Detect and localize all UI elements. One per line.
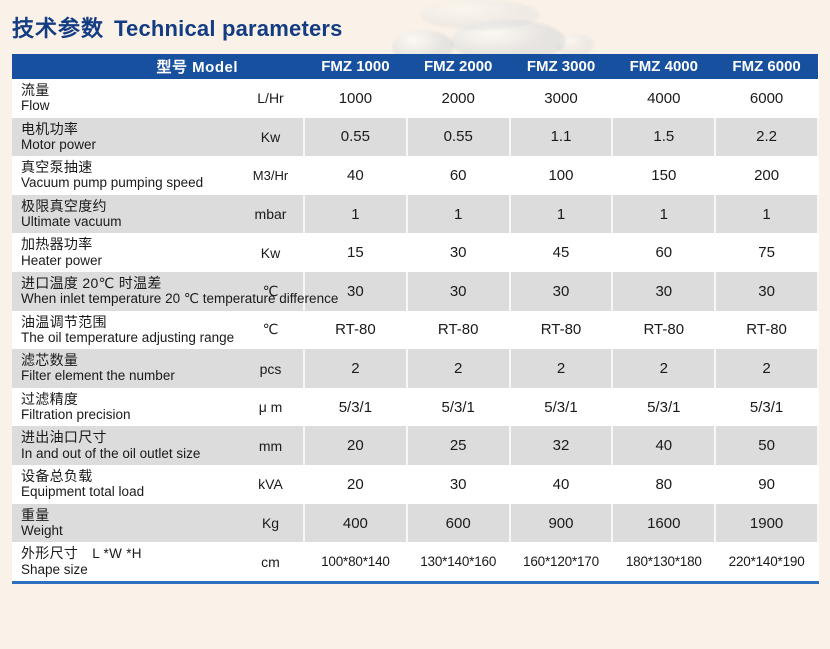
parameter-name-cell: 电机功率Motor power [12,118,238,157]
parameter-name-chinese: 滤芯数量 [21,352,234,368]
parameter-name-cell: 外形尺寸L *W *HShape size [12,542,238,583]
parameter-name-chinese: 重量 [21,507,234,523]
parameter-name-cell: 油温调节范围The oil temperature adjusting rang… [12,311,238,350]
parameter-value-cell: 45 [510,233,613,272]
parameter-value-cell: 20 [304,426,407,465]
parameter-value-cell: 5/3/1 [407,388,510,427]
table-body: 流量FlowL/Hr10002000300040006000电机功率Motor … [12,79,818,583]
parameter-value-cell: 1 [407,195,510,234]
parameter-unit-cell: ℃ [238,311,304,350]
parameter-name-chinese: 进出油口尺寸 [21,429,234,445]
parameter-value-cell: 2 [612,349,715,388]
parameter-value-cell: 80 [612,465,715,504]
parameter-name-cell: 流量Flow [12,79,238,118]
parameter-value-cell: 15 [304,233,407,272]
parameter-name-chinese: 油温调节范围 [21,314,234,330]
parameter-name-chinese: 设备总负载 [21,468,234,484]
table-row: 外形尺寸L *W *HShape sizecm100*80*140130*140… [12,542,818,583]
parameter-value-cell: RT-80 [304,311,407,350]
parameter-name-cell: 设备总负载Equipment total load [12,465,238,504]
parameter-name-english: Filter element the number [21,368,234,384]
parameter-value-cell: 2 [407,349,510,388]
parameter-name-english: In and out of the oil outlet size [21,446,234,462]
column-header-model-1: FMZ 1000 [304,54,407,79]
page-title-english: Technical parameters [114,16,343,41]
table-header: 型号 Model FMZ 1000 FMZ 2000 FMZ 3000 FMZ … [12,54,818,79]
parameter-value-cell: 2000 [407,79,510,118]
column-header-model-4: FMZ 4000 [612,54,715,79]
parameter-value-cell: 6000 [715,79,818,118]
parameter-value-cell: 1 [612,195,715,234]
parameter-name-cell: 进出油口尺寸In and out of the oil outlet size [12,426,238,465]
parameter-value-cell: RT-80 [715,311,818,350]
parameter-value-cell: 30 [407,465,510,504]
parameter-name-chinese: 流量 [21,82,234,98]
parameter-name-english: When inlet temperature 20 ℃ temperature … [21,291,234,307]
parameter-value-cell: 30 [407,272,510,311]
table-row: 流量FlowL/Hr10002000300040006000 [12,79,818,118]
parameter-value-cell: 20 [304,465,407,504]
parameter-name-chinese: 加热器功率 [21,236,234,252]
table-row: 加热器功率Heater powerKw1530456075 [12,233,818,272]
parameter-name-chinese: 进口温度 20℃ 时温差 [21,275,234,291]
parameter-name-english: Flow [21,98,234,114]
parameter-value-cell: 5/3/1 [612,388,715,427]
parameter-value-cell: 130*140*160 [407,542,510,583]
parameter-name-cell: 极限真空度约Ultimate vacuum [12,195,238,234]
parameter-value-cell: 1.5 [612,118,715,157]
parameter-value-cell: 1600 [612,504,715,543]
parameter-value-cell: 180*130*180 [612,542,715,583]
table-row: 电机功率Motor powerKw0.550.551.11.52.2 [12,118,818,157]
parameter-name-english: Weight [21,523,234,539]
parameter-name-english: Equipment total load [21,484,234,500]
column-header-model-3: FMZ 3000 [510,54,613,79]
parameter-name-english: Shape size [21,562,234,578]
table-row: 进口温度 20℃ 时温差When inlet temperature 20 ℃ … [12,272,818,311]
parameter-value-cell: 40 [304,156,407,195]
parameter-value-cell: 0.55 [407,118,510,157]
parameter-value-cell: 50 [715,426,818,465]
parameter-unit-cell: cm [238,542,304,583]
parameter-unit-cell: pcs [238,349,304,388]
parameter-value-cell: 40 [510,465,613,504]
parameter-value-cell: 32 [510,426,613,465]
parameter-value-cell: 1000 [304,79,407,118]
parameter-value-cell: 25 [407,426,510,465]
parameter-value-cell: 5/3/1 [715,388,818,427]
parameter-value-cell: 5/3/1 [510,388,613,427]
parameter-value-cell: 900 [510,504,613,543]
parameter-name-english: Ultimate vacuum [21,214,234,230]
parameter-name-chinese: 外形尺寸L *W *H [21,545,234,562]
technical-parameters-table: 型号 Model FMZ 1000 FMZ 2000 FMZ 3000 FMZ … [12,54,819,584]
parameter-value-cell: 1 [715,195,818,234]
parameter-name-chinese: 电机功率 [21,121,234,137]
parameter-value-cell: RT-80 [510,311,613,350]
parameter-name-cell: 滤芯数量Filter element the number [12,349,238,388]
table-row: 真空泵抽速Vacuum pump pumping speedM3/Hr40601… [12,156,818,195]
parameter-value-cell: RT-80 [612,311,715,350]
parameter-value-cell: 200 [715,156,818,195]
parameter-name-suffix: L *W *H [92,546,142,561]
parameter-unit-cell: Kw [238,233,304,272]
parameter-value-cell: 30 [510,272,613,311]
parameter-value-cell: 2.2 [715,118,818,157]
table-row: 过滤精度Filtration precisionμ m5/3/15/3/15/3… [12,388,818,427]
parameter-unit-cell: Kw [238,118,304,157]
parameter-value-cell: 0.55 [304,118,407,157]
parameter-value-cell: 30 [612,272,715,311]
parameter-value-cell: 60 [612,233,715,272]
parameter-unit-cell: L/Hr [238,79,304,118]
parameter-value-cell: 5/3/1 [304,388,407,427]
parameter-unit-cell: mbar [238,195,304,234]
table-row: 滤芯数量Filter element the numberpcs22222 [12,349,818,388]
parameter-value-cell: 100*80*140 [304,542,407,583]
column-header-model-5: FMZ 6000 [715,54,818,79]
parameter-value-cell: 2 [715,349,818,388]
table-row: 极限真空度约Ultimate vacuummbar11111 [12,195,818,234]
parameter-name-english: Vacuum pump pumping speed [21,175,234,191]
parameter-name-chinese: 过滤精度 [21,391,234,407]
parameter-name-cell: 加热器功率Heater power [12,233,238,272]
page-title-chinese: 技术参数 [12,16,104,41]
parameter-value-cell: 100 [510,156,613,195]
parameter-name-english: Motor power [21,137,234,153]
parameter-name-english: The oil temperature adjusting range [21,330,234,346]
parameter-value-cell: 1 [510,195,613,234]
parameter-name-cell: 真空泵抽速Vacuum pump pumping speed [12,156,238,195]
parameter-value-cell: 2 [304,349,407,388]
parameter-value-cell: 220*140*190 [715,542,818,583]
parameter-value-cell: 1900 [715,504,818,543]
parameter-name-cell: 重量Weight [12,504,238,543]
parameter-name-english: Filtration precision [21,407,234,423]
parameter-value-cell: 400 [304,504,407,543]
table-row: 设备总负载Equipment total loadkVA2030408090 [12,465,818,504]
parameter-unit-cell: mm [238,426,304,465]
parameter-name-english: Heater power [21,253,234,269]
parameter-value-cell: 60 [407,156,510,195]
parameter-value-cell: 30 [715,272,818,311]
parameter-value-cell: 3000 [510,79,613,118]
parameter-unit-cell: μ m [238,388,304,427]
parameter-name-cell: 过滤精度Filtration precision [12,388,238,427]
parameter-value-cell: 4000 [612,79,715,118]
page-title: 技术参数Technical parameters [0,0,830,43]
parameter-unit-cell: kVA [238,465,304,504]
table-row: 重量WeightKg40060090016001900 [12,504,818,543]
parameter-value-cell: 90 [715,465,818,504]
table-header-row: 型号 Model FMZ 1000 FMZ 2000 FMZ 3000 FMZ … [12,54,818,79]
parameter-unit-cell: M3/Hr [238,156,304,195]
parameter-value-cell: 30 [407,233,510,272]
table-row: 油温调节范围The oil temperature adjusting rang… [12,311,818,350]
parameter-value-cell: 600 [407,504,510,543]
parameter-value-cell: 40 [612,426,715,465]
parameter-name-chinese: 极限真空度约 [21,198,234,214]
parameter-value-cell: RT-80 [407,311,510,350]
parameter-name-chinese: 真空泵抽速 [21,159,234,175]
parameter-value-cell: 160*120*170 [510,542,613,583]
parameter-unit-cell: Kg [238,504,304,543]
parameter-value-cell: 2 [510,349,613,388]
parameter-value-cell: 150 [612,156,715,195]
parameter-value-cell: 1 [304,195,407,234]
parameter-value-cell: 1.1 [510,118,613,157]
parameter-name-cell: 进口温度 20℃ 时温差When inlet temperature 20 ℃ … [12,272,238,311]
column-header-model-2: FMZ 2000 [407,54,510,79]
table-row: 进出油口尺寸In and out of the oil outlet sizem… [12,426,818,465]
parameter-value-cell: 75 [715,233,818,272]
column-header-model: 型号 Model [12,54,304,79]
